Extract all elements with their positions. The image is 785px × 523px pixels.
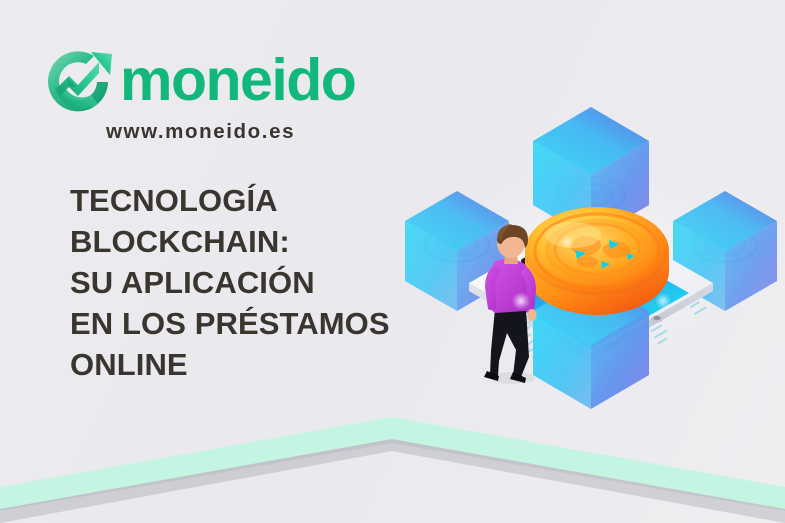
brand-url: www.moneido.es bbox=[106, 120, 295, 144]
promo-banner: moneido www.moneido.es TECNOLOGÍA BLOCKC… bbox=[0, 0, 785, 523]
moneido-arrow-chart-logo-icon bbox=[36, 42, 120, 116]
blockchain-isometric-illustration bbox=[395, 95, 785, 425]
crypto-coin bbox=[525, 207, 669, 315]
brand-logo-block[interactable]: moneido www.moneido.es bbox=[36, 40, 356, 142]
brand-wordmark: moneido bbox=[120, 48, 355, 112]
